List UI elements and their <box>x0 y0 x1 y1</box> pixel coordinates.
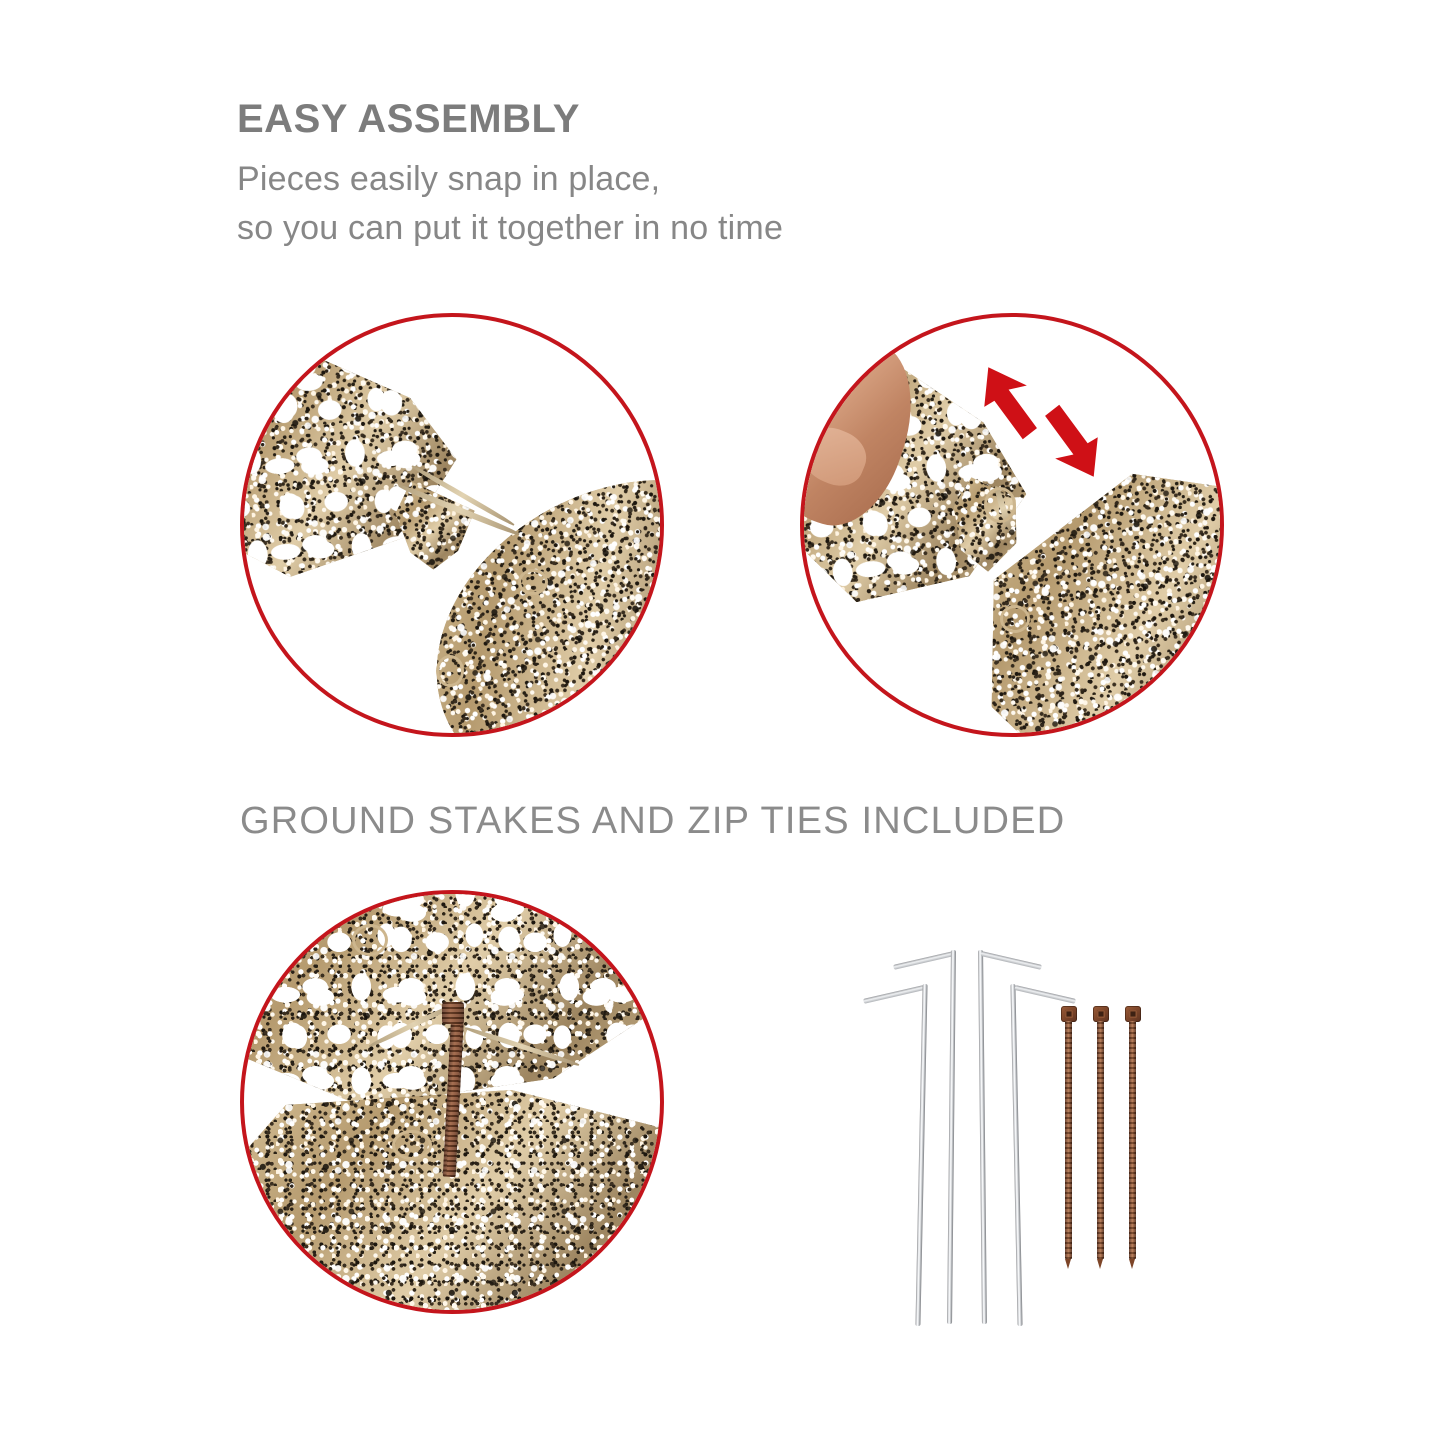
zip-tie-2-tip <box>1097 1259 1103 1269</box>
wire-loop-lower-left <box>392 1130 432 1160</box>
zip-tie-1-tail <box>1065 1021 1072 1259</box>
zip-tie-3-tail <box>1129 1021 1136 1259</box>
ground-stake-4-shaft <box>1010 984 1022 1326</box>
zip-tie-3-tip <box>1129 1259 1135 1269</box>
ground-stake-2-hook <box>893 951 955 970</box>
photo-ziptie-detail <box>240 890 664 1314</box>
ziptie-in-photo-head <box>442 1002 464 1024</box>
page-subtitle-line-2: so you can put it together in no time <box>237 204 783 253</box>
wire-loop-lower <box>1000 605 1030 633</box>
section-title-hardware: GROUND STAKES AND ZIP TIES INCLUDED <box>240 800 1065 843</box>
photo-snap-hand <box>800 313 1224 737</box>
photo-snap-closeup-inner <box>244 317 660 733</box>
snap-direction-arrow-icon <box>964 355 1116 487</box>
ground-stake-3-shaft <box>978 950 987 1324</box>
hardware-group <box>826 928 1186 1328</box>
glitter-panel-upper-left <box>244 333 500 583</box>
zip-tie-1-head <box>1061 1006 1077 1022</box>
ground-stake-4-hook <box>1014 985 1076 1004</box>
ground-stake-3-hook <box>980 951 1042 970</box>
wire-loop-upper-left <box>352 924 388 956</box>
zip-tie-1 <box>1061 1006 1079 1268</box>
page-subtitle-line-1: Pieces easily snap in place, <box>237 155 783 204</box>
wire-loop-lower <box>436 655 464 687</box>
ground-stake-2-shaft <box>947 950 956 1324</box>
wire-loop-upper <box>518 569 548 595</box>
wire-loop-center <box>984 487 1016 523</box>
ground-stake-2 <box>892 942 962 1322</box>
photo-snap-hand-inner <box>804 317 1220 733</box>
page-title: EASY ASSEMBLY <box>237 98 580 140</box>
zip-tie-3-head <box>1125 1006 1141 1022</box>
zip-tie-2 <box>1093 1006 1111 1268</box>
photo-ziptie-detail-inner <box>244 894 660 1310</box>
page-subtitle: Pieces easily snap in place, so you can … <box>237 155 783 254</box>
zip-tie-2-tail <box>1097 1021 1104 1259</box>
zip-tie-1-tip <box>1065 1259 1071 1269</box>
zip-tie-3 <box>1125 1006 1143 1268</box>
zip-tie-2-head <box>1093 1006 1109 1022</box>
photo-snap-closeup <box>240 313 664 737</box>
